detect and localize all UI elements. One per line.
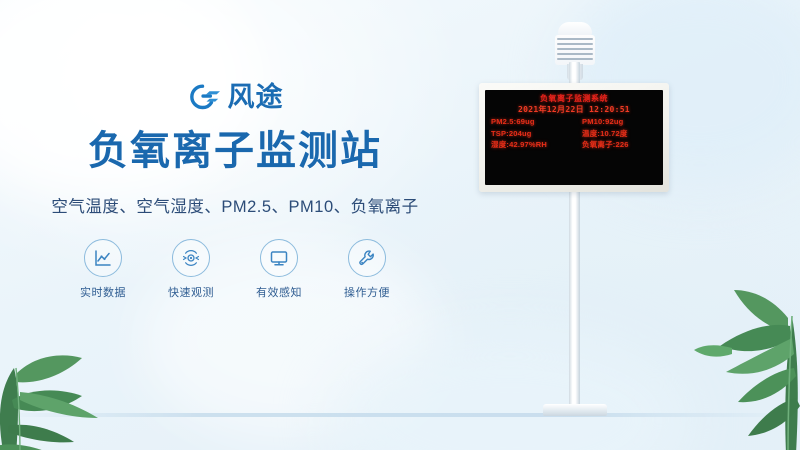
feature-label: 实时数据 [72,284,134,300]
led-reading-humidity: 湿度:42.97%RH [491,140,572,151]
hero-subtitle: 空气温度、空气湿度、PM2.5、PM10、负氧离子 [0,193,470,217]
feature-item-effective-sensing: 有效感知 [248,239,310,300]
wrench-icon [348,239,386,277]
feature-item-fast-observation: 快速观测 [160,239,222,300]
green-leaf-plant-left-icon [0,296,136,450]
hero-text-block: 风途 负氧离子监测站 空气温度、空气湿度、PM2.5、PM10、负氧离子 实时数… [0,78,470,300]
led-display-monitor: 负氧离子监测系统 2021年12月22日 12:20:51 PM2.5:69ug… [479,83,669,192]
monitor-icon [260,239,298,277]
sensor-louvers [555,35,595,65]
feature-label: 操作方便 [336,284,398,300]
monitoring-station: 负氧离子监测系统 2021年12月22日 12:20:51 PM2.5:69ug… [462,0,800,450]
radar-scan-icon [172,239,210,277]
page-title: 负氧离子监测站 [0,129,470,174]
brand-name: 风途 [228,82,284,112]
led-reading-pm10: PM10:92ug [576,117,657,128]
sensor-cap [558,22,592,36]
ground-line [0,413,800,417]
led-datetime: 2021年12月22日 12:20:51 [491,104,657,115]
line-chart-icon [84,239,122,277]
led-reading-pm25: PM2.5:69ug [491,117,572,128]
feature-item-easy-operation: 操作方便 [336,239,398,300]
fengtu-g-arrow-logo-icon [187,82,221,112]
led-reading-temperature: 温度:10.72度 [576,129,657,140]
feature-label: 快速观测 [160,284,222,300]
led-reading-tsp: TSP:204ug [491,129,572,140]
led-title: 负氧离子监测系统 [491,94,657,104]
feature-item-realtime-data: 实时数据 [72,239,134,300]
led-reading-negative-ions: 负氧离子:226 [576,140,657,151]
led-screen: 负氧离子监测系统 2021年12月22日 12:20:51 PM2.5:69ug… [485,90,663,185]
feature-label: 有效感知 [248,284,310,300]
pole-base-plate [543,404,607,416]
feature-list: 实时数据 快速观测 [0,239,470,300]
led-readings-grid: PM2.5:69ug PM10:92ug TSP:204ug 温度:10.72度… [491,117,657,151]
brand-logo: 风途 [0,78,470,116]
promo-banner: 风途 负氧离子监测站 空气温度、空气湿度、PM2.5、PM10、负氧离子 实时数… [0,0,800,450]
